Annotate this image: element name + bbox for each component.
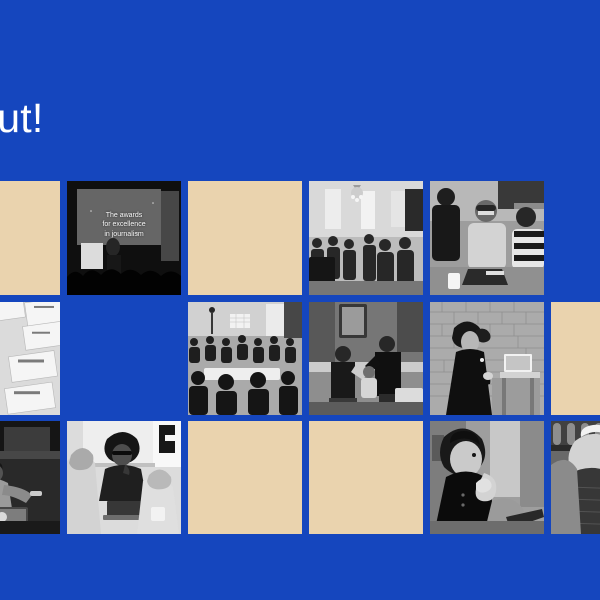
placeholder-tile <box>551 302 600 415</box>
grid-cell-r2c2 <box>188 421 302 534</box>
placeholder-tile <box>0 181 60 295</box>
photo-attendees-from-behind <box>551 421 600 534</box>
photo-speaker-brick-wall-talk <box>430 302 544 415</box>
grid-cell-r1c3 <box>309 302 423 415</box>
placeholder-tile <box>188 421 302 534</box>
page-title: s out! <box>0 98 43 139</box>
grid-cell-r0c2 <box>188 181 302 295</box>
grid-cell-r0c1: The awards for excellence in journalism <box>67 181 181 295</box>
empty-tile <box>67 302 181 415</box>
photo-classroom-seminar-audience <box>188 302 302 415</box>
grid-cell-r2c0 <box>0 421 60 534</box>
photo-ballroom-networking-crowd <box>309 181 423 295</box>
grid-cell-r1c2 <box>188 302 302 415</box>
grid-cell-r0c0 <box>0 181 60 295</box>
placeholder-tile <box>309 421 423 534</box>
photo-man-thinking-in-discussion <box>430 421 544 534</box>
grid-cell-r1c4 <box>430 302 544 415</box>
grid-cell-r0c5 <box>551 181 600 295</box>
grid-cell-r1c1 <box>67 302 181 415</box>
placeholder-tile <box>188 181 302 295</box>
photo-conference-stage-awards-slide: The awards for excellence in journalism <box>67 181 181 295</box>
grid-cell-r1c0 <box>0 302 60 415</box>
photo-woman-listening-at-laptop <box>67 421 181 534</box>
grid-cell-r2c3 <box>309 421 423 534</box>
photo-man-gesturing-at-laptop <box>0 421 60 534</box>
photo-grid: The awards for excellence in journalism <box>0 0 600 600</box>
grid-cell-r2c4 <box>430 421 544 534</box>
grid-cell-r2c5 <box>551 421 600 534</box>
slide-canvas: The awards for excellence in journalism <box>0 0 600 600</box>
grid-cell-r1c5 <box>551 302 600 415</box>
photo-panel-speakers-presentation <box>309 302 423 415</box>
grid-cell-r0c4 <box>430 181 544 295</box>
photo-workshop-attendees-laptops <box>430 181 544 295</box>
grid-cell-r0c3 <box>309 181 423 295</box>
grid-cell-r2c1 <box>67 421 181 534</box>
photo-name-badges-table <box>0 302 60 415</box>
empty-tile <box>551 181 600 295</box>
